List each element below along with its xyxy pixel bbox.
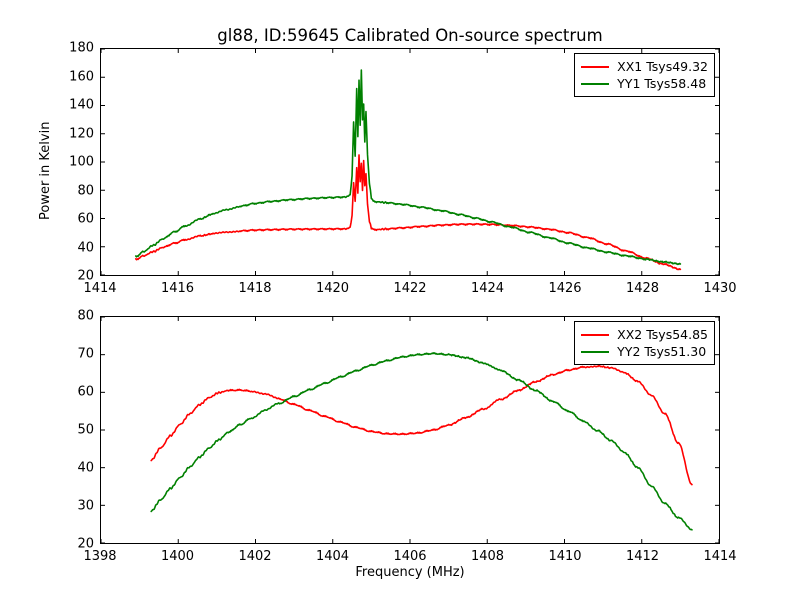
legend-line-swatch-yy1: [581, 83, 609, 85]
y-tick-label: 160: [69, 69, 94, 84]
legend-entry: YY2 Tsys51.30: [581, 343, 708, 360]
y-tick-label: 80: [77, 309, 94, 324]
y-tick-label: 20: [77, 537, 94, 552]
x-tick-label: 1416: [161, 281, 194, 296]
series-line: [136, 70, 681, 264]
bottom-panel-legend: XX2 Tsys54.85 YY2 Tsys51.30: [574, 321, 715, 365]
series-line: [151, 353, 692, 530]
x-tick-label: 1420: [316, 281, 349, 296]
y-tick-label: 70: [77, 347, 94, 362]
y-tick-label: 140: [69, 98, 94, 113]
legend-entry: YY1 Tsys58.48: [581, 75, 708, 92]
y-tick-label: 50: [77, 423, 94, 438]
figure-title: gl88, ID:59645 Calibrated On-source spec…: [100, 26, 720, 45]
y-tick-label: 60: [77, 212, 94, 227]
bottom-panel-axes: XX2 Tsys54.85 YY2 Tsys51.30: [100, 316, 720, 544]
x-axis-label: Frequency (MHz): [100, 565, 720, 580]
legend-label-xx2: XX2 Tsys54.85: [617, 327, 708, 342]
y-tick-label: 80: [77, 183, 94, 198]
y-tick-label: 40: [77, 461, 94, 476]
x-tick-label: 1408: [471, 549, 504, 564]
x-tick-label: 1412: [626, 549, 659, 564]
y-tick-label: 60: [77, 385, 94, 400]
x-tick-label: 1428: [626, 281, 659, 296]
legend-entry: XX2 Tsys54.85: [581, 326, 708, 343]
y-tick-label: 120: [69, 126, 94, 141]
legend-line-swatch-yy2: [581, 351, 609, 353]
y-axis-label-top: Power in Kelvin: [38, 122, 53, 220]
x-tick-label: 1400: [161, 549, 194, 564]
x-tick-label: 1410: [548, 549, 581, 564]
legend-label-xx1: XX1 Tsys49.32: [617, 59, 708, 74]
legend-label-yy2: YY2 Tsys51.30: [617, 344, 706, 359]
top-panel-legend: XX1 Tsys49.32 YY1 Tsys58.48: [574, 53, 715, 97]
x-tick-label: 1404: [316, 549, 349, 564]
x-tick-label: 1402: [238, 549, 271, 564]
x-tick-label: 1424: [471, 281, 504, 296]
y-tick-label: 100: [69, 155, 94, 170]
legend-line-swatch-xx1: [581, 66, 609, 68]
y-tick-label: 40: [77, 240, 94, 255]
y-tick-label: 30: [77, 499, 94, 514]
x-tick-label: 1426: [548, 281, 581, 296]
x-tick-label: 1418: [238, 281, 271, 296]
top-panel-axes: XX1 Tsys49.32 YY1 Tsys58.48: [100, 48, 720, 276]
x-tick-label: 1406: [393, 549, 426, 564]
y-tick-label: 20: [77, 269, 94, 284]
legend-label-yy1: YY1 Tsys58.48: [617, 76, 706, 91]
x-tick-label: 1414: [703, 549, 736, 564]
y-tick-label: 180: [69, 41, 94, 56]
x-tick-label: 1422: [393, 281, 426, 296]
x-tick-label: 1430: [703, 281, 736, 296]
legend-line-swatch-xx2: [581, 334, 609, 336]
series-line: [151, 366, 692, 485]
matplotlib-figure: gl88, ID:59645 Calibrated On-source spec…: [0, 0, 800, 600]
legend-entry: XX1 Tsys49.32: [581, 58, 708, 75]
